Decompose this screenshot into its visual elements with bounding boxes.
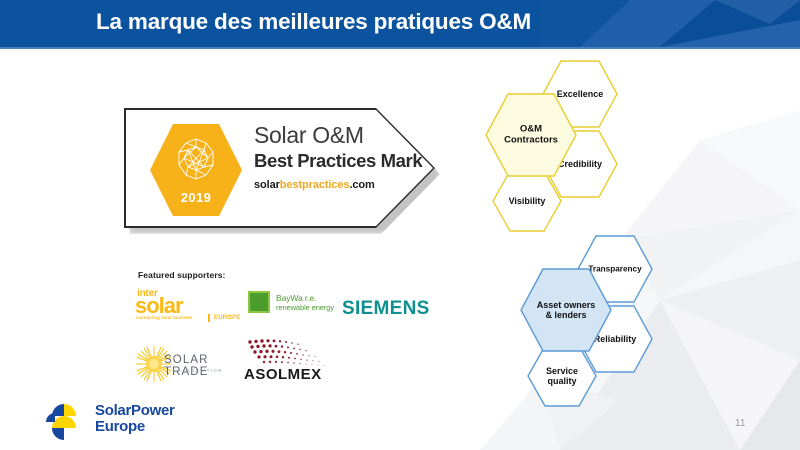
badge-url-part1: solar xyxy=(254,179,280,191)
page-number: 11 xyxy=(735,418,745,429)
hexagon-shape xyxy=(492,170,562,232)
baywa-name: BayWa r.e. xyxy=(276,293,316,303)
solarpower-europe-mark-icon xyxy=(40,400,88,440)
baywa-tagline: renewable energy xyxy=(276,303,334,312)
page-title: La marque des meilleures pratiques O&M xyxy=(96,9,531,35)
badge-title-line1: Solar O&M xyxy=(254,123,429,147)
badge-title-line2: Best Practices Mark xyxy=(254,150,429,171)
badge-url-part2: bestpractices xyxy=(280,179,350,191)
hexagon-shape xyxy=(485,93,577,177)
siemens-wordmark: SIEMENS xyxy=(342,298,438,320)
solarpower-europe-line2: Europe xyxy=(95,419,145,434)
logo-asolmex: ASOLMEX xyxy=(238,338,338,388)
featured-supporters-label: Featured supporters: xyxy=(138,270,226,280)
geodesic-sphere-icon xyxy=(172,136,220,184)
title-bar-underline xyxy=(0,47,800,49)
intersolar-region-label: EUROPE xyxy=(214,315,241,321)
asolmex-wordmark: ASOLMEX xyxy=(244,366,322,383)
logo-solar-trade-association: SOLAR TRADE ASSOCIATION xyxy=(132,340,237,386)
slide-canvas: La marque des meilleures pratiques O&M xyxy=(0,0,800,450)
hexagon-shape xyxy=(527,345,597,407)
intersolar-divider xyxy=(208,314,210,322)
badge-url-part3: .com xyxy=(349,179,374,191)
solarpower-europe-line1: SolarPower xyxy=(95,403,175,418)
badge-body: 2019 Solar O&M Best Practices Mark solar… xyxy=(126,110,433,226)
header-facets xyxy=(540,0,800,47)
logo-siemens: SIEMENS xyxy=(342,298,438,320)
logo-baywa-re: BayWa r.e. renewable energy xyxy=(245,288,335,320)
solar-om-badge: 2019 Solar O&M Best Practices Mark solar… xyxy=(124,108,444,234)
hexagon-om-contractors[interactable]: O&M Contractors xyxy=(485,93,577,177)
solar-trade-name: SOLAR TRADE xyxy=(164,354,237,378)
asolmex-dot-swoosh-icon xyxy=(240,338,332,368)
logo-intersolar-europe: inter solar connecting solar business EU… xyxy=(135,288,239,322)
hexagon-visibility[interactable]: Visibility xyxy=(492,170,562,232)
om-contractors-cluster: Excellence Credibility Visibility O&M Co… xyxy=(480,60,660,225)
badge-year-hexagon: 2019 xyxy=(150,124,242,216)
badge-text-block: Solar O&M Best Practices Mark solarbestp… xyxy=(254,123,429,191)
intersolar-solar-text: solar xyxy=(135,295,183,317)
intersolar-tagline: connecting solar business xyxy=(136,315,193,320)
solar-trade-subtitle: ASSOCIATION xyxy=(178,368,223,373)
badge-year-label: 2019 xyxy=(150,190,242,205)
hexagon-service-quality[interactable]: Service quality xyxy=(527,345,597,407)
badge-url: solarbestpractices.com xyxy=(254,179,429,191)
solarpower-europe-logo: SolarPower Europe xyxy=(40,400,190,440)
hexagon-asset-owners-lenders[interactable]: Asset owners & lenders xyxy=(520,268,612,352)
asset-owners-cluster: Transparency Reliability Service quality… xyxy=(515,235,695,395)
hexagon-shape xyxy=(520,268,612,352)
baywa-square-mark xyxy=(248,291,270,313)
